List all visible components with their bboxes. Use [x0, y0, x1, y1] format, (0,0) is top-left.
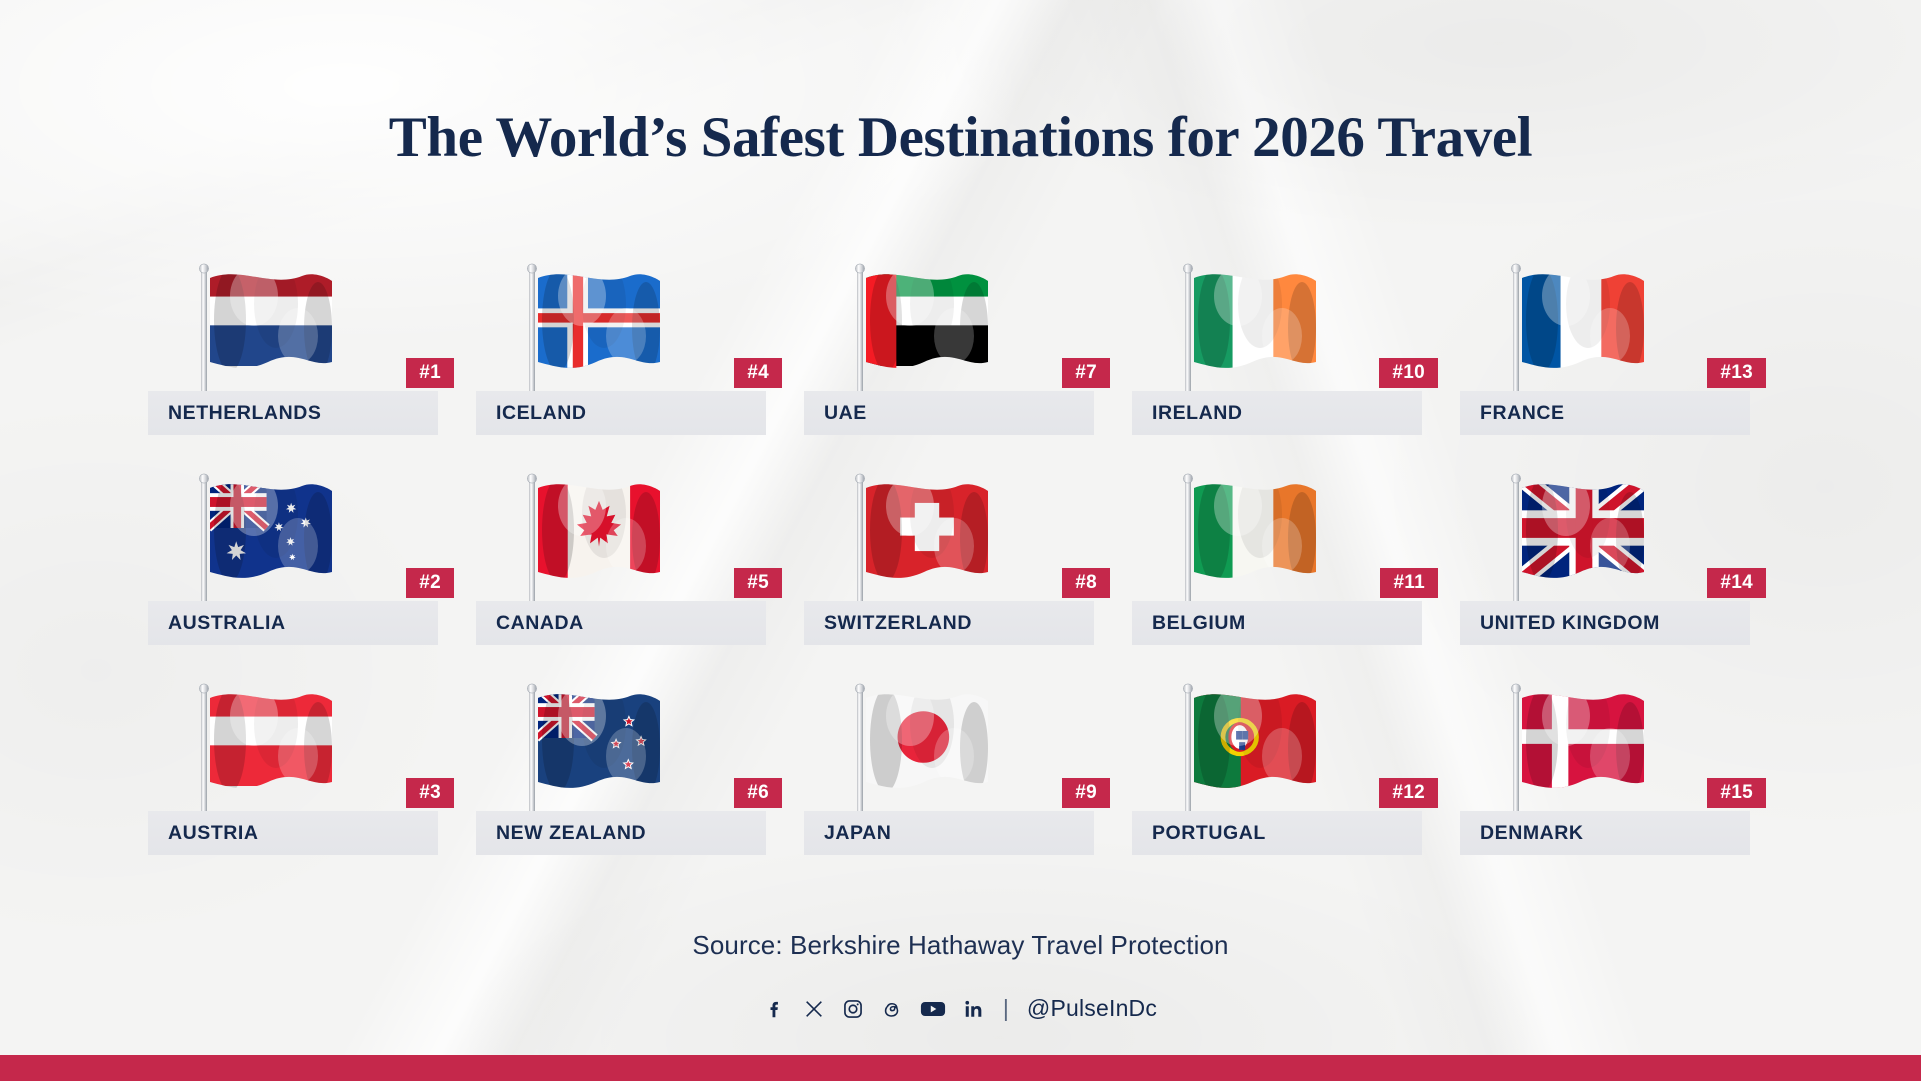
- flag-switzerland-icon: [818, 468, 1033, 618]
- country-card[interactable]: IRELAND #10: [1132, 258, 1460, 468]
- country-row: AUSTRALIA #2 CAN: [148, 468, 1788, 678]
- rank-badge: #11: [1380, 568, 1438, 598]
- country-label-bar: NETHERLANDS: [148, 391, 438, 435]
- country-label-bar: JAPAN: [804, 811, 1094, 855]
- country-label-bar: ICELAND: [476, 391, 766, 435]
- country-name: NETHERLANDS: [148, 402, 321, 425]
- country-card[interactable]: ICELAND #4: [476, 258, 804, 468]
- country-name: UAE: [804, 402, 867, 425]
- country-card[interactable]: FRANCE #13: [1460, 258, 1788, 468]
- country-name: NEW ZEALAND: [476, 822, 646, 845]
- flag-australia-icon: [162, 468, 377, 618]
- rank-badge: #4: [734, 358, 782, 388]
- flag-portugal-icon: [1146, 678, 1361, 828]
- facebook-icon[interactable]: [764, 998, 786, 1020]
- country-label-bar: UNITED KINGDOM: [1460, 601, 1750, 645]
- country-name: AUSTRALIA: [148, 612, 286, 635]
- country-label-bar: PORTUGAL: [1132, 811, 1422, 855]
- country-name: CANADA: [476, 612, 584, 635]
- rank-badge: #6: [734, 778, 782, 808]
- country-label-bar: NEW ZEALAND: [476, 811, 766, 855]
- rank-badge: #13: [1707, 358, 1766, 388]
- rank-badge: #2: [406, 568, 454, 598]
- flag-france-icon: [1474, 258, 1689, 408]
- country-label-bar: BELGIUM: [1132, 601, 1422, 645]
- flag-austria-icon: [162, 678, 377, 828]
- x-icon[interactable]: [803, 998, 825, 1020]
- country-card[interactable]: PORTUGAL #12: [1132, 678, 1460, 888]
- rank-badge: #10: [1379, 358, 1438, 388]
- country-card[interactable]: NEW ZEALAND #6: [476, 678, 804, 888]
- country-card[interactable]: NETHERLANDS #1: [148, 258, 476, 468]
- rank-badge: #8: [1062, 568, 1110, 598]
- flag-iceland-icon: [490, 258, 705, 408]
- flag-japan-icon: [818, 678, 1033, 828]
- flag-canada-icon: [490, 468, 705, 618]
- threads-icon[interactable]: [881, 998, 903, 1020]
- country-name: IRELAND: [1132, 402, 1243, 425]
- country-card[interactable]: AUSTRALIA #2: [148, 468, 476, 678]
- flag-denmark-icon: [1474, 678, 1689, 828]
- flag-ireland-icon: [1146, 258, 1361, 408]
- country-name: SWITZERLAND: [804, 612, 972, 635]
- flag-belgium-icon: [1146, 468, 1361, 618]
- flag-netherlands-icon: [162, 258, 377, 408]
- country-name: FRANCE: [1460, 402, 1565, 425]
- country-name: UNITED KINGDOM: [1460, 612, 1660, 635]
- country-card[interactable]: DENMARK #15: [1460, 678, 1788, 888]
- social-links-row: | @PulseInDc: [0, 995, 1921, 1022]
- country-card[interactable]: JAPAN #9: [804, 678, 1132, 888]
- rank-badge: #12: [1379, 778, 1438, 808]
- country-label-bar: UAE: [804, 391, 1094, 435]
- rank-badge: #14: [1707, 568, 1766, 598]
- country-card[interactable]: BELGIUM #11: [1132, 468, 1460, 678]
- flag-new-zealand-icon: [490, 678, 705, 828]
- country-card[interactable]: SWITZERLAND #8: [804, 468, 1132, 678]
- country-label-bar: FRANCE: [1460, 391, 1750, 435]
- linkedin-icon[interactable]: [963, 998, 985, 1020]
- country-label-bar: DENMARK: [1460, 811, 1750, 855]
- country-card[interactable]: UNITED KINGDOM #14: [1460, 468, 1788, 678]
- flag-united-kingdom-icon: [1474, 468, 1689, 618]
- country-label-bar: AUSTRIA: [148, 811, 438, 855]
- country-name: DENMARK: [1460, 822, 1584, 845]
- country-card[interactable]: UAE #7: [804, 258, 1132, 468]
- rank-badge: #3: [406, 778, 454, 808]
- rank-badge: #7: [1062, 358, 1110, 388]
- rank-badge: #1: [406, 358, 454, 388]
- source-attribution: Source: Berkshire Hathaway Travel Protec…: [0, 930, 1921, 961]
- country-name: AUSTRIA: [148, 822, 259, 845]
- bottom-accent-bar: [0, 1055, 1921, 1081]
- country-label-bar: SWITZERLAND: [804, 601, 1094, 645]
- instagram-icon[interactable]: [842, 998, 864, 1020]
- country-label-bar: AUSTRALIA: [148, 601, 438, 645]
- country-row: AUSTRIA #3: [148, 678, 1788, 888]
- country-name: PORTUGAL: [1132, 822, 1266, 845]
- country-label-bar: CANADA: [476, 601, 766, 645]
- flag-uae-icon: [818, 258, 1033, 408]
- country-grid: NETHERLANDS #1: [148, 258, 1788, 888]
- social-separator: |: [1003, 995, 1009, 1022]
- rank-badge: #5: [734, 568, 782, 598]
- country-card[interactable]: AUSTRIA #3: [148, 678, 476, 888]
- country-label-bar: IRELAND: [1132, 391, 1422, 435]
- country-row: NETHERLANDS #1: [148, 258, 1788, 468]
- rank-badge: #9: [1062, 778, 1110, 808]
- youtube-icon[interactable]: [920, 998, 946, 1020]
- country-card[interactable]: CANADA #5: [476, 468, 804, 678]
- country-name: JAPAN: [804, 822, 891, 845]
- country-name: BELGIUM: [1132, 612, 1246, 635]
- country-name: ICELAND: [476, 402, 587, 425]
- rank-badge: #15: [1707, 778, 1766, 808]
- social-handle: @PulseInDc: [1027, 995, 1157, 1022]
- page-title: The World’s Safest Destinations for 2026…: [0, 105, 1921, 170]
